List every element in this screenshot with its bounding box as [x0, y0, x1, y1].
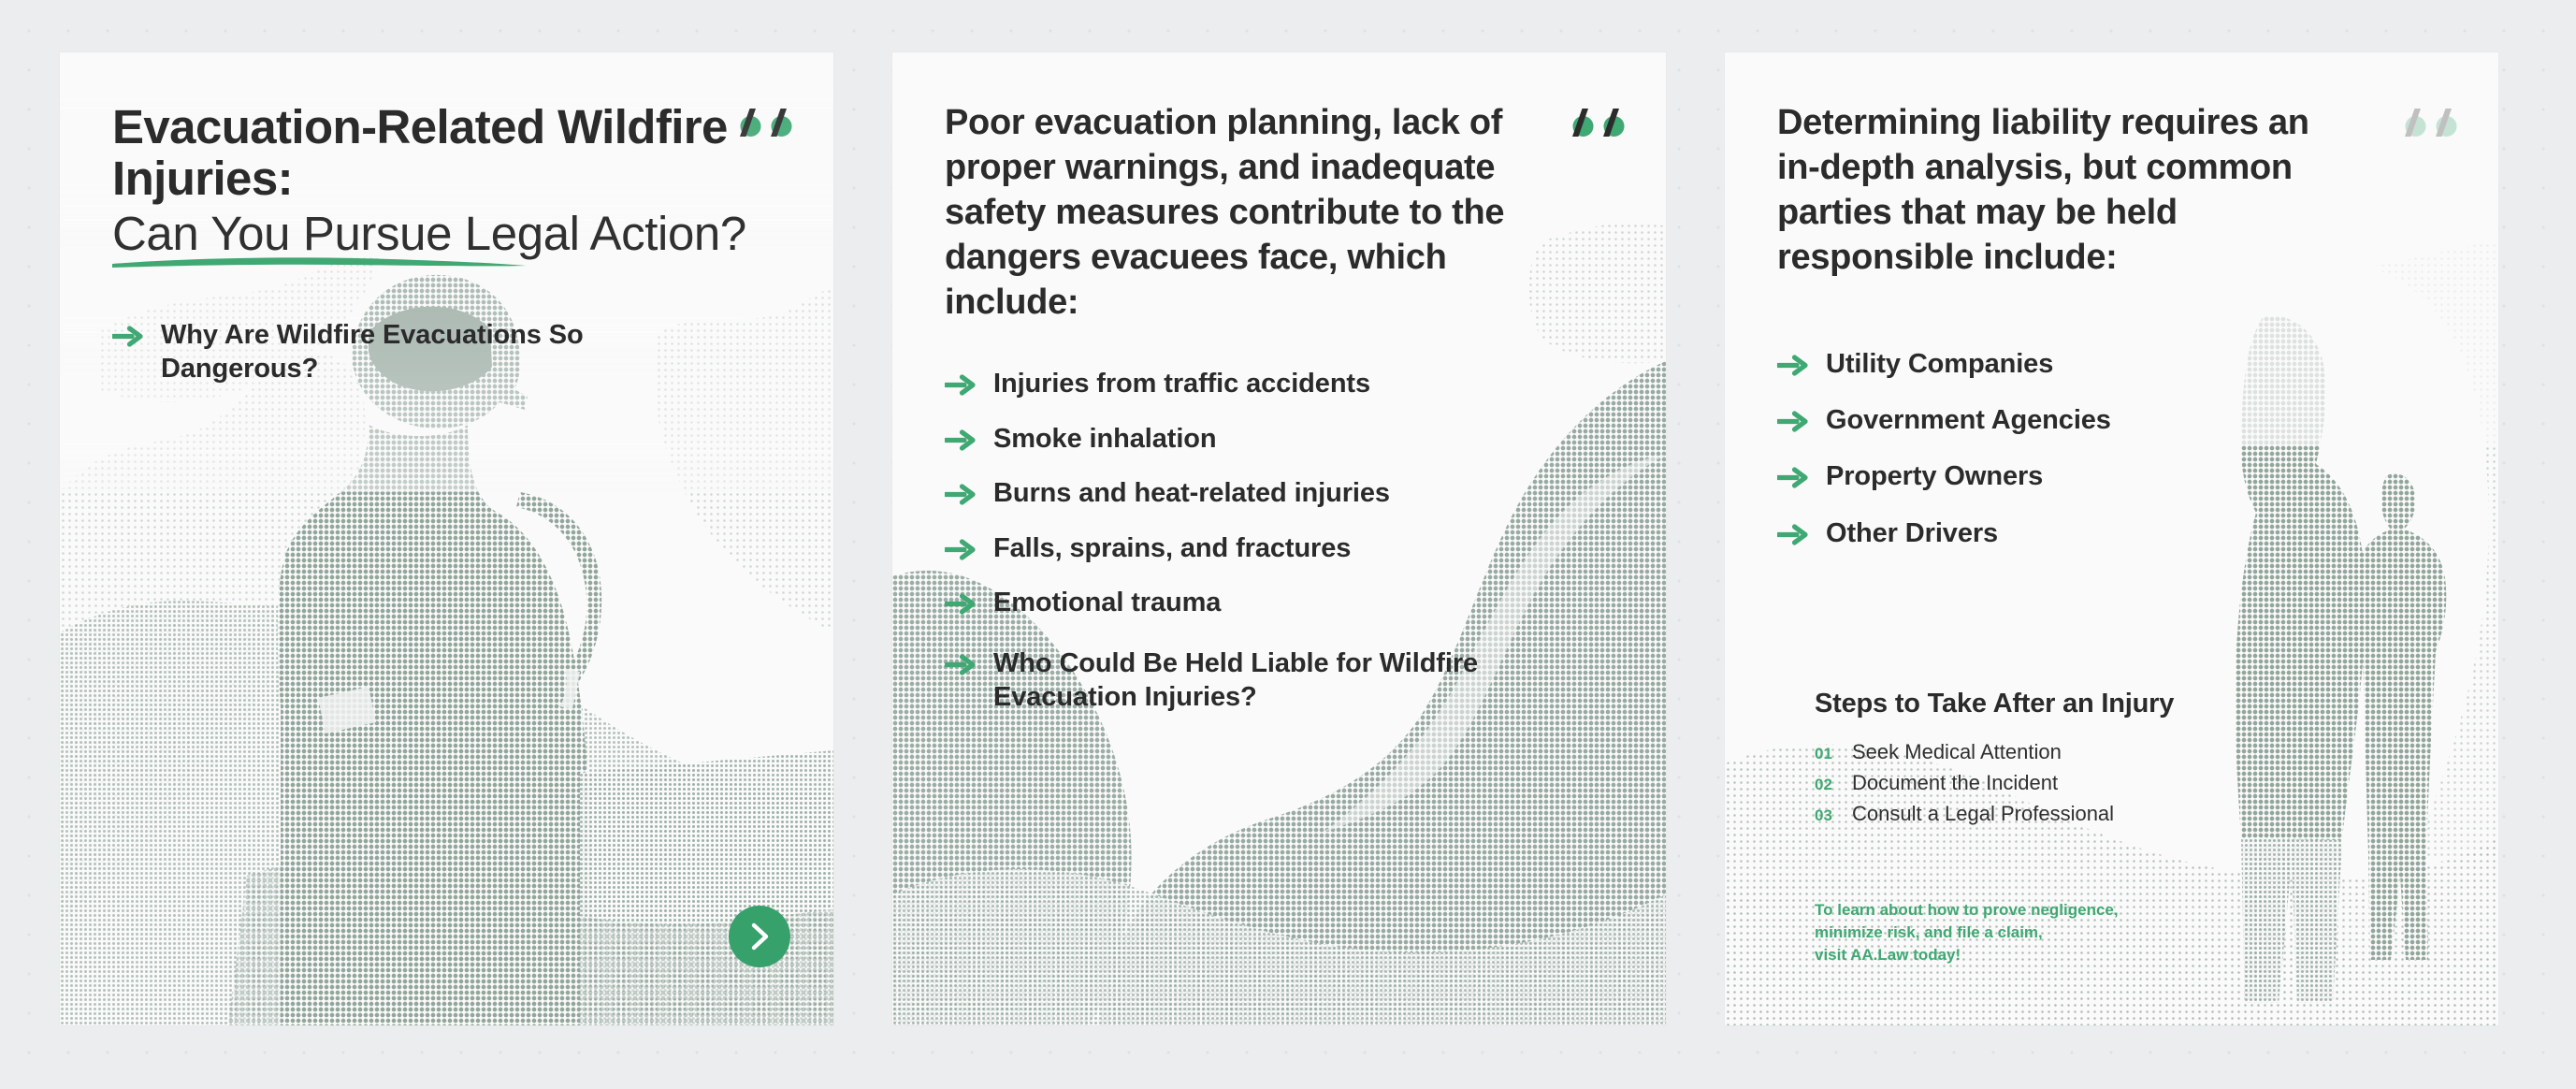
- list-item-label: Who Could Be Held Liable for Wildfire Ev…: [993, 647, 1480, 714]
- list-item[interactable]: Burns and heat-related injuries: [945, 477, 1614, 510]
- list-item[interactable]: 02 Document the Incident: [1815, 771, 2174, 795]
- card-2-bullet-list: Injuries from traffic accidents Smoke in…: [945, 368, 1614, 714]
- step-number: 02: [1815, 776, 1839, 794]
- list-item[interactable]: 01 Seek Medical Attention: [1815, 740, 2174, 764]
- list-item[interactable]: Why Are Wildfire Evacuations So Dangerou…: [112, 319, 781, 385]
- list-item[interactable]: Injuries from traffic accidents: [945, 368, 1614, 400]
- list-item[interactable]: Smoke inhalation: [945, 423, 1614, 456]
- list-item-label: Burns and heat-related injuries: [993, 477, 1390, 510]
- steps-title: Steps to Take After an Injury: [1815, 689, 2174, 719]
- steps-list: 01 Seek Medical Attention 02 Document th…: [1815, 740, 2174, 826]
- slide-card-3[interactable]: Determining liability requires an in-dep…: [1725, 52, 2498, 1025]
- arrow-right-icon: [1777, 466, 1809, 488]
- step-number: 01: [1815, 745, 1839, 763]
- list-item[interactable]: Property Owners: [1777, 460, 2446, 493]
- list-item-label: Falls, sprains, and fractures: [993, 532, 1351, 565]
- list-item-label: Utility Companies: [1826, 348, 2053, 381]
- step-number: 03: [1815, 806, 1839, 825]
- page-title-strong: Evacuation-Related Wildfire Injuries:: [112, 101, 730, 204]
- arrow-right-icon: [945, 538, 977, 560]
- slide-card-2[interactable]: Poor evacuation planning, lack of proper…: [892, 52, 1666, 1025]
- next-slide-button[interactable]: [729, 906, 790, 967]
- arrow-right-icon: [1777, 354, 1809, 376]
- list-item-label: Emotional trauma: [993, 587, 1221, 619]
- arrow-right-icon: [112, 325, 144, 347]
- title-underline-icon: [110, 254, 528, 269]
- cta-text: To learn about how to prove negligence, …: [1815, 899, 2119, 966]
- arrow-right-icon: [945, 592, 977, 615]
- arrow-right-icon: [945, 373, 977, 396]
- list-item[interactable]: 03 Consult a Legal Professional: [1815, 802, 2174, 826]
- cta-line-2: minimize risk, and file a claim,: [1815, 922, 2119, 944]
- cta-line-1: To learn about how to prove negligence,: [1815, 899, 2119, 922]
- list-item-label: Property Owners: [1826, 460, 2043, 493]
- list-item-label: Other Drivers: [1826, 517, 1998, 550]
- list-item-label: Why Are Wildfire Evacuations So Dangerou…: [161, 319, 694, 385]
- list-item-label: Government Agencies: [1826, 404, 2111, 437]
- steps-section: Steps to Take After an Injury 01 Seek Me…: [1815, 689, 2174, 833]
- chevron-right-icon: [746, 922, 773, 951]
- list-item[interactable]: Falls, sprains, and fractures: [945, 532, 1614, 565]
- step-label: Seek Medical Attention: [1852, 740, 2062, 764]
- card-3-bullet-list: Utility Companies Government Agencies Pr…: [1777, 348, 2446, 551]
- step-label: Consult a Legal Professional: [1852, 802, 2114, 826]
- carousel-deck: Evacuation-Related Wildfire Injuries: Ca…: [0, 0, 2576, 1089]
- cta-line-3: visit AA.Law today!: [1815, 944, 2119, 966]
- card-3-body: Determining liability requires an in-dep…: [1725, 52, 2498, 550]
- list-item[interactable]: Who Could Be Held Liable for Wildfire Ev…: [945, 647, 1614, 714]
- arrow-right-icon: [1777, 523, 1809, 545]
- step-label: Document the Incident: [1852, 771, 2058, 795]
- arrow-right-icon: [945, 483, 977, 505]
- card-1-body: Evacuation-Related Wildfire Injuries: Ca…: [60, 52, 833, 385]
- page-title-light: Can You Pursue Legal Action?: [112, 206, 746, 261]
- page-title-light-text: Can You Pursue Legal Action?: [112, 207, 746, 260]
- card-3-lede: Determining liability requires an in-dep…: [1777, 101, 2357, 281]
- list-item-label: Smoke inhalation: [993, 423, 1217, 456]
- list-item-label: Injuries from traffic accidents: [993, 368, 1370, 400]
- card-2-lede: Poor evacuation planning, lack of proper…: [945, 101, 1525, 325]
- card-1-subquestion-list: Why Are Wildfire Evacuations So Dangerou…: [112, 319, 781, 385]
- list-item[interactable]: Other Drivers: [1777, 517, 2446, 550]
- list-item[interactable]: Government Agencies: [1777, 404, 2446, 437]
- arrow-right-icon: [1777, 410, 1809, 432]
- arrow-right-icon: [945, 653, 977, 675]
- slide-card-1[interactable]: Evacuation-Related Wildfire Injuries: Ca…: [60, 52, 833, 1025]
- arrow-right-icon: [945, 428, 977, 451]
- list-item[interactable]: Utility Companies: [1777, 348, 2446, 381]
- list-item[interactable]: Emotional trauma: [945, 587, 1614, 619]
- card-2-body: Poor evacuation planning, lack of proper…: [892, 52, 1666, 714]
